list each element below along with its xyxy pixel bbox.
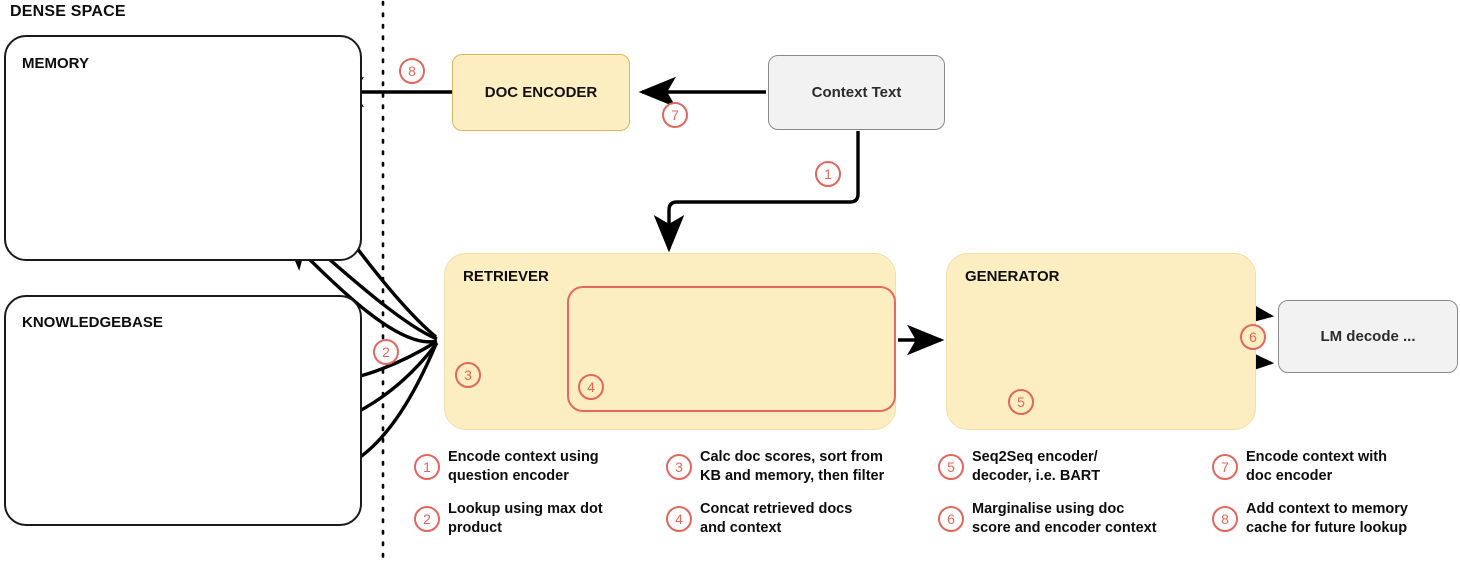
- generator-label: GENERATOR: [965, 268, 1059, 285]
- legend-text-8: Add context to memory cache for future l…: [1246, 500, 1408, 537]
- legend-marker-7: 7: [1212, 454, 1238, 480]
- marker-3-text: 3: [464, 367, 472, 383]
- doc-encoder-label: DOC ENCODER: [485, 84, 598, 101]
- legend-text-1: Encode context using question encoder: [448, 448, 599, 485]
- generator-box[interactable]: GENERATOR: [946, 253, 1256, 430]
- step-marker-6: 6: [1240, 324, 1266, 350]
- page-title: DENSE SPACE: [10, 3, 126, 21]
- memory-panel-title: MEMORY: [22, 55, 89, 72]
- legend-marker-4: 4: [666, 506, 692, 532]
- legend-marker-6: 6: [938, 506, 964, 532]
- legend-marker-1: 1: [414, 454, 440, 480]
- legend-text-5: Seq2Seq encoder/ decoder, i.e. BART: [972, 448, 1100, 485]
- legend-item-2: 2 Lookup using max dot product: [414, 500, 654, 537]
- step-marker-2: 2: [373, 339, 399, 365]
- legend-marker-2: 2: [414, 506, 440, 532]
- legend-item-7: 7 Encode context with doc encoder: [1212, 448, 1460, 485]
- legend-item-1: 1 Encode context using question encoder: [414, 448, 654, 485]
- legend-text-2: Lookup using max dot product: [448, 500, 603, 537]
- legend-marker-5: 5: [938, 454, 964, 480]
- context-text-node[interactable]: Context Text: [768, 55, 945, 130]
- lm-decode-node[interactable]: LM decode ...: [1278, 300, 1458, 373]
- legend-text-3: Calc doc scores, sort from KB and memory…: [700, 448, 884, 485]
- legend-item-3: 3 Calc doc scores, sort from KB and memo…: [666, 448, 928, 485]
- marker-5-text: 5: [1017, 394, 1025, 410]
- step-marker-7: 7: [662, 102, 688, 128]
- legend-item-5: 5 Seq2Seq encoder/ decoder, i.e. BART: [938, 448, 1200, 485]
- legend-text-7: Encode context with doc encoder: [1246, 448, 1387, 485]
- retriever-label: RETRIEVER: [463, 268, 549, 285]
- legend-item-6: 6 Marginalise using doc score and encode…: [938, 500, 1206, 537]
- legend-item-4: 4 Concat retrieved docs and context: [666, 500, 928, 537]
- marker-4-text: 4: [587, 379, 595, 395]
- step-marker-4: 4: [578, 374, 604, 400]
- doc-encoder-node[interactable]: DOC ENCODER: [452, 54, 630, 131]
- step-marker-3: 3: [455, 362, 481, 388]
- legend-marker-8: 8: [1212, 506, 1238, 532]
- concat-group-outline: [567, 286, 896, 412]
- knowledgebase-panel-title: KNOWLEDGEBASE: [22, 314, 163, 331]
- diagram-canvas: DENSE SPACE MEMORY KNOWLEDGEBASE DOC ENC…: [0, 0, 1460, 561]
- legend-text-4: Concat retrieved docs and context: [700, 500, 852, 537]
- legend-marker-3: 3: [666, 454, 692, 480]
- marker-8-text: 8: [408, 63, 416, 79]
- marker-7-text: 7: [671, 107, 679, 123]
- step-marker-1: 1: [815, 161, 841, 187]
- lm-decode-label: LM decode ...: [1320, 328, 1415, 345]
- context-text-label: Context Text: [812, 84, 902, 101]
- marker-6-text: 6: [1249, 329, 1257, 345]
- step-marker-8: 8: [399, 58, 425, 84]
- marker-1-text: 1: [824, 166, 832, 182]
- step-marker-5: 5: [1008, 389, 1034, 415]
- legend-item-8: 8 Add context to memory cache for future…: [1212, 500, 1460, 537]
- legend-text-6: Marginalise using doc score and encoder …: [972, 500, 1157, 537]
- marker-2-text: 2: [382, 344, 390, 360]
- arrow-1-context-to-retriever: [669, 131, 858, 249]
